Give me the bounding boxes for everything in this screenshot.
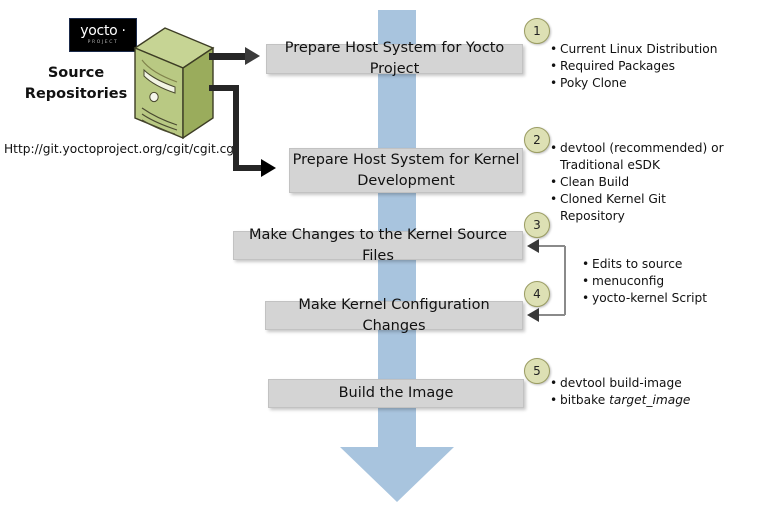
yocto-logo-wordmark: yocto · — [80, 24, 125, 38]
bullet-item: • menuconfig — [582, 273, 762, 290]
bullet-item: • devtool build-image — [550, 375, 750, 392]
step-circle-3: 3 — [524, 212, 550, 238]
bullet-item: • Cloned Kernel Git Repository — [550, 191, 725, 225]
bullet-glyph-icon: • — [582, 290, 592, 307]
yocto-project-logo: yocto · PROJECT — [69, 18, 137, 52]
source-repositories-label-line2: Repositories — [12, 84, 140, 105]
bullet-glyph-icon: • — [550, 392, 560, 409]
source-repositories-label: Source Repositories — [12, 63, 140, 105]
bullet-text: Poky Clone — [560, 75, 765, 92]
connector-to-step1 — [209, 53, 249, 60]
source-repository-url: Http://git.yoctoproject.org/cgit/cgit.cg… — [4, 142, 237, 156]
bullet-item: • Required Packages — [550, 58, 765, 75]
bullet-glyph-icon: • — [582, 273, 592, 290]
step-circle-4: 4 — [524, 281, 550, 307]
process-box-step1-label: Prepare Host System for Yocto Project — [267, 38, 522, 80]
step-circle-5: 5 — [524, 358, 550, 384]
bullet-list-steps-3-4: • Edits to source • menuconfig • yocto-k… — [582, 256, 762, 307]
bullet-text: yocto-kernel Script — [592, 290, 762, 307]
bullet-item: • Poky Clone — [550, 75, 765, 92]
bullet-glyph-icon: • — [550, 41, 560, 58]
process-box-step2-label: Prepare Host System for Kernel Developme… — [290, 150, 522, 192]
bullet-text: devtool (recommended) or Traditional eSD… — [560, 140, 725, 174]
bullet-text-command: bitbake — [560, 393, 609, 407]
bullet-list-step1: • Current Linux Distribution • Required … — [550, 41, 765, 92]
process-box-step1[interactable]: Prepare Host System for Yocto Project — [266, 44, 523, 74]
bullet-text: Required Packages — [560, 58, 765, 75]
bullet-item: • devtool (recommended) or Traditional e… — [550, 140, 725, 174]
bullet-list-step5: • devtool build-image • bitbake target_i… — [550, 375, 750, 409]
bullet-text: devtool build-image — [560, 375, 750, 392]
step-circle-1: 1 — [524, 18, 550, 44]
bullet-item: • Clean Build — [550, 174, 725, 191]
source-repositories-label-line1: Source — [12, 63, 140, 84]
bullet-text: Current Linux Distribution — [560, 41, 765, 58]
bracket-vertical-step34 — [564, 246, 566, 315]
process-box-step3[interactable]: Make Changes to the Kernel Source Files — [233, 231, 523, 260]
bullet-item: • Current Linux Distribution — [550, 41, 765, 58]
step-circle-1-number: 1 — [533, 24, 541, 38]
bullet-glyph-icon: • — [550, 140, 560, 157]
connector-to-step1-arrowhead-icon — [245, 47, 260, 65]
bullet-glyph-icon: • — [550, 174, 560, 191]
bullet-glyph-icon: • — [550, 75, 560, 92]
bullet-glyph-icon: • — [582, 256, 592, 273]
connector-to-step2-vertical — [233, 85, 239, 170]
process-box-step3-label: Make Changes to the Kernel Source Files — [234, 225, 522, 267]
process-box-step5-label: Build the Image — [339, 383, 454, 404]
bullet-text: Clean Build — [560, 174, 725, 191]
step-circle-2: 2 — [524, 127, 550, 153]
process-box-step5[interactable]: Build the Image — [268, 379, 524, 408]
bullet-glyph-icon: • — [550, 191, 560, 208]
bullet-glyph-icon: • — [550, 58, 560, 75]
flow-arrow-head-icon — [340, 447, 454, 502]
bullet-text: bitbake target_image — [560, 392, 750, 409]
bracket-arrowhead-step3-icon — [527, 239, 539, 253]
bullet-item: • Edits to source — [582, 256, 762, 273]
bullet-glyph-icon: • — [550, 375, 560, 392]
bullet-text-argument: target_image — [609, 393, 690, 407]
bullet-text: Edits to source — [592, 256, 762, 273]
step-circle-5-number: 5 — [533, 364, 541, 378]
process-box-step2[interactable]: Prepare Host System for Kernel Developme… — [289, 148, 523, 193]
bullet-text: Cloned Kernel Git Repository — [560, 191, 725, 225]
bullet-text: menuconfig — [592, 273, 762, 290]
server-icon — [132, 26, 216, 144]
process-box-step4-label: Make Kernel Configuration Changes — [266, 295, 522, 337]
connector-to-step2-arrowhead-icon — [261, 159, 276, 177]
bracket-horizontal-step4 — [538, 314, 565, 316]
bracket-arrowhead-step4-icon — [527, 308, 539, 322]
bullet-list-step2: • devtool (recommended) or Traditional e… — [550, 140, 725, 225]
diagram-canvas: yocto · PROJECT Source Repositories Http… — [0, 0, 769, 517]
bullet-item: • yocto-kernel Script — [582, 290, 762, 307]
yocto-logo-subtext: PROJECT — [88, 39, 119, 46]
step-circle-3-number: 3 — [533, 218, 541, 232]
step-circle-4-number: 4 — [533, 287, 541, 301]
bullet-item: • bitbake target_image — [550, 392, 750, 409]
process-box-step4[interactable]: Make Kernel Configuration Changes — [265, 301, 523, 330]
bracket-horizontal-step3 — [538, 245, 565, 247]
step-circle-2-number: 2 — [533, 133, 541, 147]
